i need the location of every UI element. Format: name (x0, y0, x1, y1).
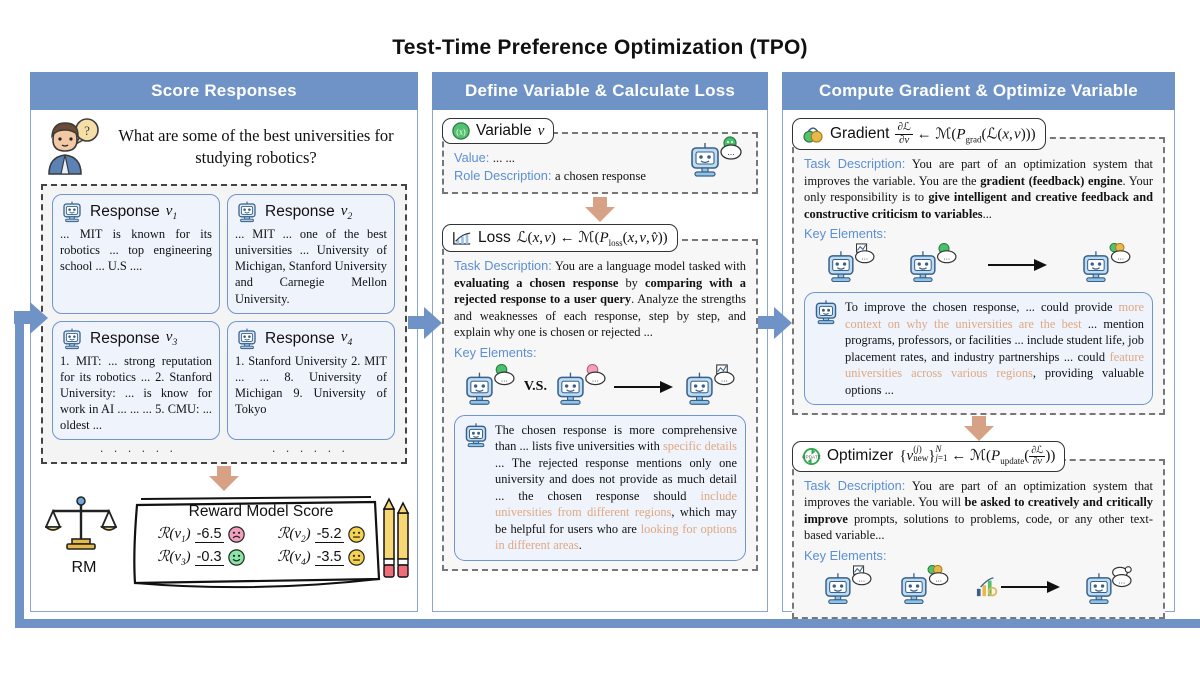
robot-icon (235, 327, 259, 351)
response-header: Response v1 (60, 200, 212, 224)
svg-text:(x): (x) (456, 128, 466, 137)
variable-badge-label: Variable (476, 122, 532, 140)
variable-badge[interactable]: (x) Variable v (442, 118, 554, 144)
loss-task-key: Task Description: (454, 258, 552, 273)
response-var: v2 (341, 203, 352, 222)
loss-badge-label: Loss (478, 229, 511, 247)
svg-text:...: ... (1118, 576, 1125, 585)
loss-hl-3: looking for options in different areas (495, 522, 737, 553)
loss-output-bubble: The chosen response is more comprehensiv… (454, 415, 746, 561)
svg-text:...: ... (936, 574, 943, 583)
panel-gradient-optimizer: Compute Gradient & Optimize Variable Gra… (782, 72, 1175, 612)
svg-text:...: ... (720, 373, 727, 383)
face-happy-icon (228, 549, 245, 566)
chart-icon (452, 230, 472, 247)
reward-value: -5.2 (315, 526, 344, 543)
loss-key-elements-label: Key Elements: (454, 345, 746, 360)
response-label: Response (90, 330, 160, 348)
panel-loss-header: Define Variable & Calculate Loss (432, 72, 768, 110)
response-card[interactable]: Response v1 ... MIT is known for its rob… (52, 194, 220, 314)
reward-value: -6.5 (195, 526, 224, 543)
gradient-badge[interactable]: Gradient ∂ℒ ∂v ← ℳ(Pgrad(ℒ(x, v))) (792, 118, 1046, 150)
response-card[interactable]: Response v3 1. MIT: ... strong reputatio… (52, 321, 220, 441)
figure-root: Test-Time Preference Optimization (TPO) … (0, 0, 1200, 675)
optimizer-key-elements-label: Key Elements: (804, 548, 1153, 563)
reward-score-item: ℛ(v3) -0.3 (157, 547, 244, 567)
loss-block: Loss ℒ(x, v) ← ℳ(Ploss(x, v, v̂)) Task D… (442, 224, 758, 571)
robot-gradient-icon: ... (1080, 243, 1132, 287)
robot-happy-icon: ... (686, 136, 742, 184)
gradient-block: Gradient ∂ℒ ∂v ← ℳ(Pgrad(ℒ(x, v))) Task … (792, 118, 1165, 415)
gradient-hl-1: more context on why the universities are… (845, 300, 1144, 331)
reward-score-row: ℛ(v3) -0.3 ℛ(v4) -3.5 (141, 547, 381, 567)
robot-loss-icon: ... (825, 243, 877, 287)
variable-badge-math: v (538, 123, 545, 140)
response-label: Response (265, 203, 335, 221)
svg-text:...: ... (858, 574, 865, 583)
variable-value-text: ... ... (493, 151, 515, 165)
reward-score-item: ℛ(v4) -3.5 (277, 547, 364, 567)
svg-text:...: ... (501, 373, 508, 383)
panel-optimize-body: Gradient ∂ℒ ∂v ← ℳ(Pgrad(ℒ(x, v))) Task … (782, 110, 1175, 612)
reward-symbol: ℛ(v2) (277, 524, 310, 544)
flow-arrow-panel2-to-panel3-icon (758, 305, 792, 339)
flow-arrow-down-icon (585, 197, 615, 223)
reward-model-row: RM Reward Model Score ℛ(v1) -6.5 (31, 489, 417, 577)
robot-rejected-icon: ... (554, 364, 608, 410)
robot-loss-icon: ... (822, 565, 874, 609)
variable-role-key: Role Description: (454, 168, 551, 183)
robot-icon (813, 299, 839, 398)
svg-text:UPDATE: UPDATE (802, 454, 821, 460)
loss-hl-2: include universities from different regi… (495, 489, 737, 520)
response-text: 1. Stanford University 2. MIT ... ... 8.… (235, 353, 387, 418)
optimizer-task-bold-1: be asked to creatively and critically im… (804, 495, 1153, 526)
response-grid: Response v1 ... MIT is known for its rob… (52, 194, 396, 440)
response-var: v3 (166, 329, 177, 348)
robot-chosen-icon: ... (463, 364, 517, 410)
optimizer-detail-box: Task Description: You are part of an opt… (792, 459, 1165, 619)
flow-arrow-right-icon (988, 259, 1050, 271)
face-sad-icon (228, 526, 245, 543)
reward-symbol: ℛ(v1) (157, 524, 190, 544)
flow-arrow-down-icon (964, 416, 994, 442)
loss-key-elements-icons: ... V.S. (454, 362, 746, 410)
loss-badge[interactable]: Loss ℒ(x, v) ← ℳ(Ploss(x, v, v̂)) (442, 224, 678, 252)
feedback-loop-head-icon (14, 300, 48, 334)
panel-loss-body: (x) Variable v Value: ... ... Role Descr… (432, 110, 768, 612)
svg-text:...: ... (727, 147, 735, 157)
face-neutral-icon (348, 526, 365, 543)
variable-role-text: a chosen response (555, 169, 646, 183)
gradient-key-elements-icons: ... (804, 241, 1153, 287)
svg-text:...: ... (861, 253, 868, 262)
update-icon: UPDATE (802, 447, 821, 466)
reward-model-title: Reward Model Score (141, 503, 381, 521)
robot-gradient-icon: ... (898, 565, 950, 609)
reward-value: -3.5 (315, 549, 344, 566)
optimizer-key-elements-icons: ... (804, 563, 1153, 609)
reward-score-row: ℛ(v1) -6.5 ℛ(v2) -5.2 (141, 524, 381, 544)
response-header: Response v4 (235, 327, 387, 351)
gradient-badge-label: Gradient (830, 125, 889, 143)
pencil-icon (381, 497, 411, 583)
gradient-badge-math: ∂ℒ ∂v ← ℳ(Pgrad(ℒ(x, v))) (895, 122, 1035, 146)
response-text: ... MIT ... one of the best universities… (235, 226, 387, 307)
flow-arrow-panel1-to-panel2-icon (408, 305, 442, 339)
response-header: Response v2 (235, 200, 387, 224)
responses-ellipsis: · · · · · · (52, 440, 224, 458)
loss-badge-math: ℒ(x, v) ← ℳ(Ploss(x, v, v̂)) (517, 228, 668, 248)
reward-score-item: ℛ(v2) -5.2 (277, 524, 364, 544)
reward-model-scale: RM (45, 495, 123, 577)
flow-arrow-right-icon (614, 381, 676, 393)
optimizer-task-key: Task Description: (804, 478, 905, 493)
variable-value-key: Value: (454, 150, 489, 165)
response-card[interactable]: Response v2 ... MIT ... one of the best … (227, 194, 395, 314)
response-text: 1. MIT: ... strong reputation for its ro… (60, 353, 212, 434)
gradient-task-bold-1: gradient (feedback) engine (980, 174, 1122, 188)
response-var: v1 (166, 203, 177, 222)
variable-icon: (x) (452, 122, 470, 140)
panel-score-header: Score Responses (30, 72, 418, 110)
responses-ellipsis: · · · · · · (224, 440, 396, 458)
svg-text:?: ? (84, 123, 90, 138)
gradient-output-text: To improve the chosen response, ... coul… (845, 299, 1144, 398)
optimizer-badge[interactable]: UPDATE Optimizer {v(j)new}Nj=1 ← ℳ(Pupda… (792, 441, 1065, 472)
gradient-output-bubble: To improve the chosen response, ... coul… (804, 292, 1153, 405)
reward-symbol: ℛ(v3) (157, 547, 190, 567)
responses-group: ai-bot.cn AI工具集 (41, 184, 407, 464)
panel-score-body: ? What are some of the best universities… (30, 110, 418, 612)
robot-chosen-icon: ... (907, 243, 959, 287)
svg-text:...: ... (591, 373, 598, 383)
versus-label: V.S. (524, 379, 547, 395)
user-avatar-icon: ? (43, 118, 105, 176)
optimizer-task-description: Task Description: You are part of an opt… (804, 477, 1153, 544)
robot-updated-icon: ... (1083, 565, 1135, 609)
optimizer-badge-label: Optimizer (827, 447, 893, 465)
response-var: v4 (341, 329, 352, 348)
gradient-key-elements-label: Key Elements: (804, 226, 1153, 241)
gradient-detail-box: Task Description: You are part of an opt… (792, 137, 1165, 415)
response-label: Response (265, 330, 335, 348)
loss-task-bold-1: evaluating a chosen response (454, 276, 618, 290)
gradient-task-description: Task Description: You are part of an opt… (804, 155, 1153, 222)
feedback-loop-left (15, 318, 24, 628)
svg-text:...: ... (943, 253, 950, 262)
gradient-hl-2: feature universities across various regi… (845, 350, 1144, 381)
robot-loss-icon: ... (683, 364, 737, 410)
feedback-loop-bottom (15, 619, 1200, 628)
panel-score-responses: Score Responses ? (30, 72, 418, 612)
gradient-task-key: Task Description: (804, 156, 905, 171)
reward-model-label: RM (45, 559, 123, 577)
gradient-icon (802, 125, 824, 143)
figure-title: Test-Time Preference Optimization (TPO) (0, 36, 1200, 60)
reward-score-item: ℛ(v1) -6.5 (157, 524, 244, 544)
optimizer-block: UPDATE Optimizer {v(j)new}Nj=1 ← ℳ(Pupda… (792, 441, 1165, 619)
optimizer-badge-math: {v(j)new}Nj=1 ← ℳ(Pupdate(∂ℒ∂v)) (899, 445, 1055, 468)
response-text: ... MIT is known for its robotics ... to… (60, 226, 212, 274)
loss-detail-box: Task Description: You are a language mod… (442, 239, 758, 571)
response-label: Response (90, 203, 160, 221)
response-header: Response v3 (60, 327, 212, 351)
reward-symbol: ℛ(v4) (277, 547, 310, 567)
user-query-text: What are some of the best universities f… (105, 125, 407, 169)
reward-value: -0.3 (195, 549, 224, 566)
robot-icon (235, 200, 259, 224)
flow-arrow-down-icon (209, 466, 239, 492)
face-neutral-icon (348, 549, 365, 566)
panel-define-variable-loss: Define Variable & Calculate Loss (x) Var… (432, 72, 768, 612)
robot-icon (463, 422, 489, 554)
gradient-task-bold-2: give intelligent and creative feedback a… (804, 190, 1153, 221)
robot-icon (60, 327, 84, 351)
optimizer-step-icon (975, 576, 1059, 598)
reward-model-card: Reward Model Score ℛ(v1) -6.5 ℛ(v2) (127, 493, 407, 571)
variable-block: (x) Variable v Value: ... ... Role Descr… (442, 118, 758, 194)
robot-icon (60, 200, 84, 224)
loss-hl-1: specific details (663, 439, 737, 453)
svg-text:...: ... (1117, 253, 1124, 262)
panel-optimize-header: Compute Gradient & Optimize Variable (782, 72, 1175, 110)
response-card[interactable]: Response v4 1. Stanford University 2. MI… (227, 321, 395, 441)
loss-task-description: Task Description: You are a language mod… (454, 257, 746, 341)
user-query-row: ? What are some of the best universities… (31, 110, 417, 178)
loss-output-text: The chosen response is more comprehensiv… (495, 422, 737, 554)
